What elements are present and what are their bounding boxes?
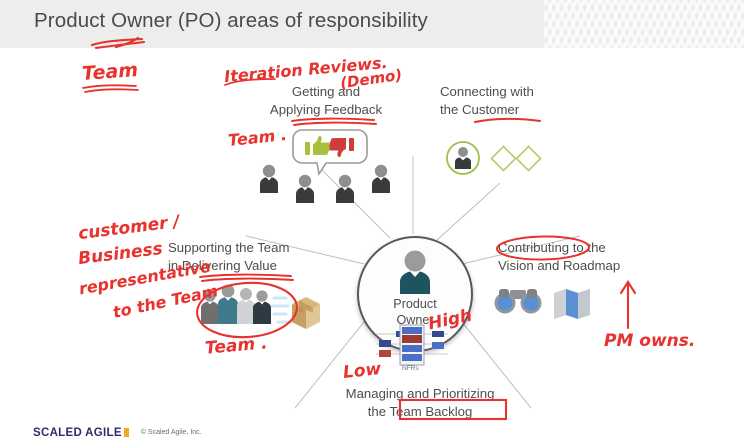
customer-icons bbox=[444, 136, 564, 182]
header-texture bbox=[544, 0, 744, 48]
thumbs-bubble-icon bbox=[292, 128, 368, 178]
footer: SCALED AGILE© Scaled Agile, Inc. bbox=[33, 424, 202, 442]
ink-annotation-team-feedback: Team . bbox=[227, 125, 287, 150]
ink-annotation-low: Low bbox=[342, 359, 382, 383]
motion-streaks-icon bbox=[270, 298, 290, 322]
page-title: Product Owner (PO) areas of responsibili… bbox=[34, 9, 428, 33]
node-vision-line2: Vision and Roadmap bbox=[498, 257, 678, 275]
binoculars-icon bbox=[495, 289, 542, 314]
node-supporting-line2: in Delivering Value bbox=[168, 257, 348, 275]
node-customer-line1: Connecting with bbox=[440, 83, 590, 101]
center-label-line1: Product bbox=[359, 296, 471, 312]
node-feedback-line2: Applying Feedback bbox=[243, 101, 409, 119]
logo-mark-icon bbox=[124, 428, 129, 437]
thumbs-up-icon bbox=[305, 136, 330, 155]
team-delivery-icons bbox=[196, 280, 326, 336]
team-group-icon bbox=[201, 285, 271, 324]
people-group-icon bbox=[258, 163, 400, 207]
ink-annotation-iteration-reviews: Iteration Reviews. bbox=[223, 53, 388, 86]
ink-annotation-business: Business bbox=[77, 239, 164, 269]
ink-annotation-pm-owns: PM owns. bbox=[604, 331, 695, 351]
diagram-canvas: Product Owner Getting and Applying Feedb… bbox=[0, 48, 744, 443]
node-vision-line1: Contributing to the bbox=[498, 239, 678, 257]
ink-circle-team-icon bbox=[193, 279, 301, 341]
ink-annotation-team-support: Team . bbox=[204, 333, 268, 358]
slide-root: Product Owner (PO) areas of responsibili… bbox=[0, 0, 744, 443]
node-feedback-line1: Getting and bbox=[243, 83, 409, 101]
backlog-nfrs-label: NFRs bbox=[402, 365, 419, 372]
ink-annotation-customer: customer / bbox=[77, 212, 181, 244]
ink-underline-feedback bbox=[288, 117, 382, 129]
node-customer-label: Connecting with the Customer bbox=[440, 83, 590, 118]
person-icon bbox=[395, 250, 435, 294]
ink-underline-customer bbox=[472, 117, 548, 127]
center-label-line2: Owner bbox=[359, 312, 471, 328]
roadmap-icon bbox=[554, 289, 590, 319]
ink-annotation-team-top: Team bbox=[81, 59, 138, 85]
node-backlog-label: Managing and Prioritizing the Team Backl… bbox=[318, 385, 522, 420]
node-customer-line2: the Customer bbox=[440, 101, 590, 119]
vision-roadmap-icons bbox=[494, 284, 594, 324]
slide-header: Product Owner (PO) areas of responsibili… bbox=[0, 0, 744, 48]
ink-underline-delivering-value bbox=[197, 273, 297, 285]
ink-annotation-to-the-team: to the Team bbox=[111, 281, 219, 322]
ink-arrow-pm-owns bbox=[612, 276, 652, 332]
package-box-icon bbox=[292, 297, 320, 329]
copyright-text: © Scaled Agile, Inc. bbox=[141, 429, 202, 436]
ink-underline-team-top bbox=[80, 84, 152, 96]
thumbs-down-icon bbox=[329, 138, 354, 157]
node-backlog-line2: the Team Backlog bbox=[318, 403, 522, 421]
node-supporting-label: Supporting the Team in Delivering Value bbox=[168, 239, 348, 274]
scaled-agile-logo: SCALED AGILE bbox=[33, 427, 122, 439]
node-feedback-label: Getting and Applying Feedback bbox=[243, 83, 409, 118]
diamond-pair-icon bbox=[491, 146, 540, 170]
node-vision-label: Contributing to the Vision and Roadmap bbox=[498, 239, 678, 274]
node-backlog-line1: Managing and Prioritizing bbox=[318, 385, 522, 403]
center-node-label: Product Owner bbox=[359, 296, 471, 328]
center-node-product-owner[interactable]: Product Owner bbox=[357, 236, 473, 352]
customer-circle-icon bbox=[447, 142, 479, 174]
node-supporting-line1: Supporting the Team bbox=[168, 239, 348, 257]
